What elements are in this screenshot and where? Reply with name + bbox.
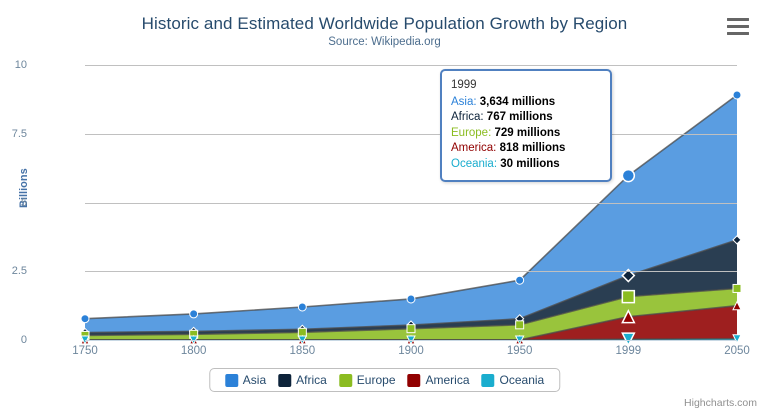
credits-link[interactable]: Highcharts.com xyxy=(684,397,757,409)
tooltip-series-value: 3,634 millions xyxy=(480,96,555,108)
plot-area xyxy=(85,65,737,340)
x-axis-tick-label: 1950 xyxy=(507,345,533,357)
data-point-marker[interactable] xyxy=(733,91,741,99)
legend-swatch xyxy=(339,374,352,387)
gridline xyxy=(85,134,737,135)
tooltip-series-value: 818 millions xyxy=(500,142,566,154)
tooltip-series-value: 767 millions xyxy=(487,111,553,123)
tooltip-series-name: Asia: xyxy=(451,96,480,108)
legend-label: Oceania xyxy=(500,373,545,387)
data-point-marker[interactable] xyxy=(516,321,524,329)
legend-label: America xyxy=(426,373,470,387)
legend-item-africa[interactable]: Africa xyxy=(278,373,327,387)
tooltip-series-name: America: xyxy=(451,142,500,154)
x-axis-tick-label: 1850 xyxy=(290,345,316,357)
legend-swatch xyxy=(225,374,238,387)
data-point-marker[interactable] xyxy=(81,315,89,323)
legend-item-asia[interactable]: Asia xyxy=(225,373,266,387)
y-axis-tick-label: 2.5 xyxy=(0,265,27,277)
legend-item-oceania[interactable]: Oceania xyxy=(482,373,545,387)
tooltip-series-name: Europe: xyxy=(451,127,494,139)
data-point-marker[interactable] xyxy=(190,310,198,318)
x-axis-tick-label: 1800 xyxy=(181,345,207,357)
gridline xyxy=(85,65,737,66)
tooltip-series-name: Africa: xyxy=(451,111,487,123)
x-axis-tick-label: 2050 xyxy=(724,345,750,357)
chart-subtitle: Source: Wikipedia.org xyxy=(0,36,769,48)
y-axis-tick-label: 7.5 xyxy=(0,128,27,140)
hamburger-menu-icon[interactable] xyxy=(727,18,749,35)
x-axis-tick-label: 1900 xyxy=(398,345,424,357)
tooltip-row: Europe: 729 millions xyxy=(451,126,601,142)
gridline xyxy=(85,340,737,341)
gridline xyxy=(85,271,737,272)
tooltip-series-value: 30 millions xyxy=(500,158,559,170)
tooltip-rows: Asia: 3,634 millionsAfrica: 767 millions… xyxy=(451,95,601,173)
y-axis-tick-label: 0 xyxy=(0,334,27,346)
menu-bar-1 xyxy=(727,18,749,21)
legend-label: Europe xyxy=(357,373,396,387)
legend-swatch xyxy=(278,374,291,387)
data-point-marker[interactable] xyxy=(516,276,524,284)
legend-swatch xyxy=(482,374,495,387)
y-axis-tick-label: 5 xyxy=(0,197,27,209)
tooltip-row: Asia: 3,634 millions xyxy=(451,95,601,111)
chart-legend[interactable]: AsiaAfricaEuropeAmericaOceania xyxy=(209,368,560,392)
tooltip-row: Oceania: 30 millions xyxy=(451,157,601,173)
legend-swatch xyxy=(408,374,421,387)
data-point-marker[interactable] xyxy=(407,295,415,303)
data-point-marker[interactable] xyxy=(733,284,741,292)
menu-bar-3 xyxy=(727,32,749,35)
legend-item-america[interactable]: America xyxy=(408,373,470,387)
gridline xyxy=(85,203,737,204)
legend-label: Africa xyxy=(296,373,327,387)
data-point-marker[interactable] xyxy=(407,325,415,333)
tooltip-series-name: Oceania: xyxy=(451,158,500,170)
legend-item-europe[interactable]: Europe xyxy=(339,373,396,387)
chart-title: Historic and Estimated Worldwide Populat… xyxy=(0,14,769,34)
menu-bar-2 xyxy=(727,25,749,28)
highcharts-container: Historic and Estimated Worldwide Populat… xyxy=(0,0,769,416)
tooltip-series-value: 729 millions xyxy=(494,127,560,139)
tooltip-header: 1999 xyxy=(451,78,601,94)
tooltip-row: America: 818 millions xyxy=(451,141,601,157)
tooltip-row: Africa: 767 millions xyxy=(451,110,601,126)
legend-label: Asia xyxy=(243,373,266,387)
x-axis-tick-label: 1999 xyxy=(616,345,642,357)
chart-tooltip: 1999 Asia: 3,634 millionsAfrica: 767 mil… xyxy=(440,69,612,182)
x-axis-tick-label: 1750 xyxy=(72,345,98,357)
y-axis-tick-label: 10 xyxy=(0,59,27,71)
data-point-marker[interactable] xyxy=(298,303,306,311)
